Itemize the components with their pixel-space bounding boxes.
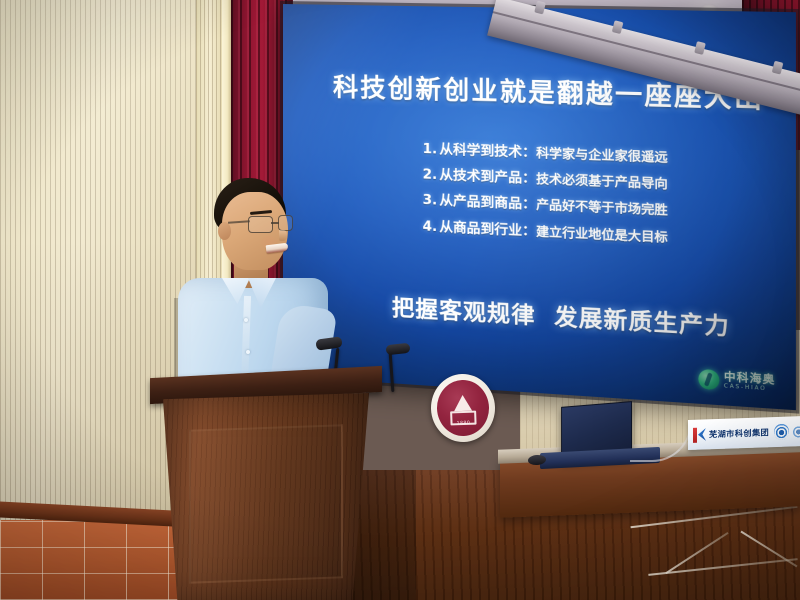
glasses-lens-right xyxy=(278,215,293,231)
crest-triangle-icon xyxy=(454,394,473,411)
light-bar-clip xyxy=(534,1,546,15)
glasses-lens-left xyxy=(248,216,273,233)
conference-photo-scene: 科技创新创业就是翻越一座座大山 1.从科学到技术：科学家与企业家很遥远 2.从技… xyxy=(0,0,800,600)
podium-front-face xyxy=(163,393,369,600)
crest-year: 1880 xyxy=(457,421,471,426)
light-bar-clip xyxy=(772,61,784,75)
sponsor-banner: 芜湖市科创集团 xyxy=(688,416,800,450)
company-logo-icon xyxy=(693,427,706,442)
shirt-button xyxy=(246,350,250,354)
signal-wave-icon xyxy=(792,424,800,438)
signal-wave-icon xyxy=(774,424,789,441)
crest-inner-disc: 1880 xyxy=(436,379,490,437)
podium-inset-panel xyxy=(189,424,343,583)
speaker-mouth xyxy=(266,243,289,254)
light-bar-clip xyxy=(694,41,706,55)
speaker-ear xyxy=(218,222,231,240)
shirt-button xyxy=(244,318,248,322)
speaker-nose xyxy=(279,230,287,241)
light-bar-clip xyxy=(612,20,624,34)
banner-text: 芜湖市科创集团 xyxy=(709,426,769,440)
podium xyxy=(150,372,382,600)
